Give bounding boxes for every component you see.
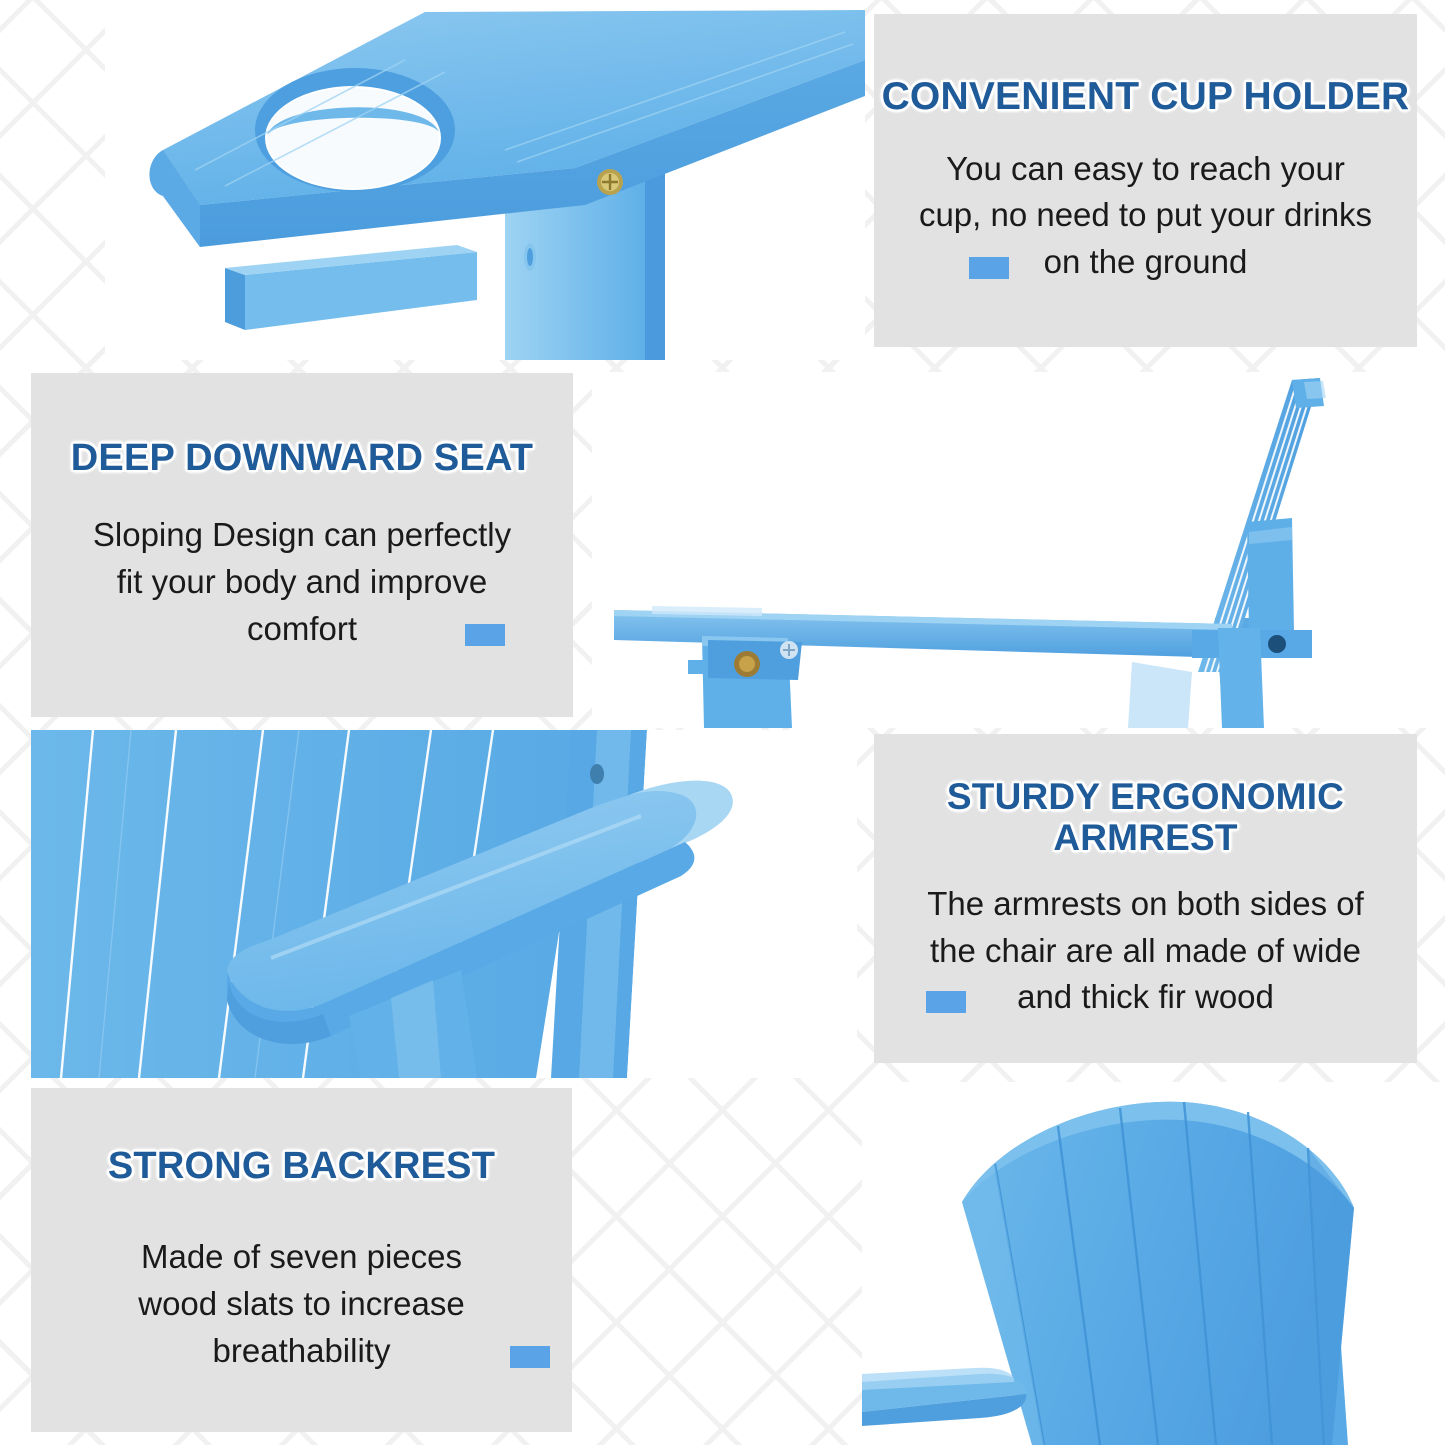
infographic-stage: CONVENIENT CUP HOLDER You can easy to re… — [0, 0, 1445, 1445]
panel-title-sturdy-ergonomic-armrest: STURDY ERGONOMIC ARMREST — [874, 776, 1417, 859]
panel-body-text: Sloping Design can perfectly fit your bo… — [93, 516, 511, 647]
panel-body-strong-backrest: Made of seven pieces wood slats to incre… — [102, 1234, 502, 1375]
blue-rect-marker-icon — [510, 1346, 550, 1368]
feature-panel-sturdy-ergonomic-armrest: STURDY ERGONOMIC ARMREST The armrests on… — [874, 734, 1417, 1063]
chair-side-profile-photo — [592, 372, 1445, 728]
blue-rect-marker-icon — [969, 257, 1009, 279]
blue-rect-marker-icon — [926, 991, 966, 1013]
feature-panel-cup-holder: CONVENIENT CUP HOLDER You can easy to re… — [874, 14, 1417, 347]
backrest-photo — [862, 1082, 1445, 1445]
panel-title-cup-holder: CONVENIENT CUP HOLDER — [882, 75, 1410, 119]
panel-title-strong-backrest: STRONG BACKREST — [108, 1145, 495, 1188]
feature-panel-deep-downward-seat: DEEP DOWNWARD SEAT Sloping Design can pe… — [31, 373, 573, 717]
panel-body-text: Made of seven pieces wood slats to incre… — [138, 1238, 465, 1369]
panel-body-sturdy-ergonomic-armrest: The armrests on both sides of the chair … — [906, 881, 1386, 1022]
panel-body-cup-holder: You can easy to reach your cup, no need … — [911, 146, 1381, 287]
blue-rect-marker-icon — [465, 624, 505, 646]
feature-panel-strong-backrest: STRONG BACKREST Made of seven pieces woo… — [31, 1088, 572, 1432]
cup-holder-photo — [105, 0, 865, 360]
panel-body-deep-downward-seat: Sloping Design can perfectly fit your bo… — [77, 512, 527, 653]
panel-body-text: The armrests on both sides of the chair … — [927, 885, 1364, 1016]
armrest-photo — [31, 730, 857, 1078]
panel-title-deep-downward-seat: DEEP DOWNWARD SEAT — [71, 437, 533, 480]
